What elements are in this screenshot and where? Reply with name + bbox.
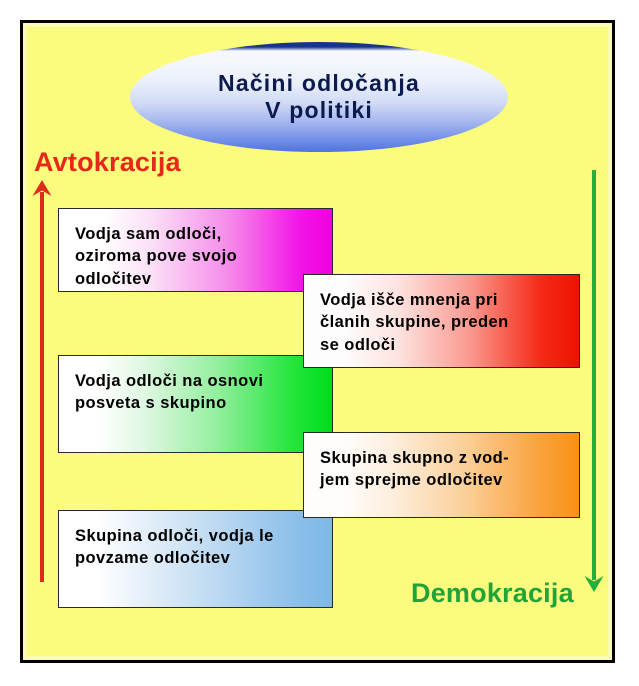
step-box-5: Skupina odloči, vodja le povzame odločit… xyxy=(58,510,333,608)
step-box-5-label: Skupina odloči, vodja le povzame odločit… xyxy=(75,525,318,570)
title-line-1: Načini odločanja xyxy=(218,70,420,97)
democracy-label: Demokracija xyxy=(411,578,574,609)
title-ellipse: Načini odločanja V politiki xyxy=(130,42,508,152)
step-box-2: Vodja išče mnenja pri članih skupine, pr… xyxy=(303,274,580,368)
step-box-2-label: Vodja išče mnenja pri članih skupine, pr… xyxy=(320,289,565,356)
title-line-2: V politiki xyxy=(265,97,373,124)
diagram-canvas: Načini odločanja V politiki Avtokracija … xyxy=(0,0,639,686)
step-box-3-label: Vodja odloči na osnovi posveta s skupino xyxy=(75,370,318,415)
step-box-4: Skupina skupno z vod- jem sprejme odloči… xyxy=(303,432,580,518)
step-box-1: Vodja sam odloči, oziroma pove svojo odl… xyxy=(58,208,333,292)
step-box-4-label: Skupina skupno z vod- jem sprejme odloči… xyxy=(320,447,565,492)
autocracy-up-arrow-icon xyxy=(30,178,54,590)
step-box-3: Vodja odloči na osnovi posveta s skupino xyxy=(58,355,333,453)
democracy-down-arrow-icon xyxy=(582,166,606,594)
step-box-1-label: Vodja sam odloči, oziroma pove svojo odl… xyxy=(75,223,318,290)
autocracy-label: Avtokracija xyxy=(34,147,181,178)
